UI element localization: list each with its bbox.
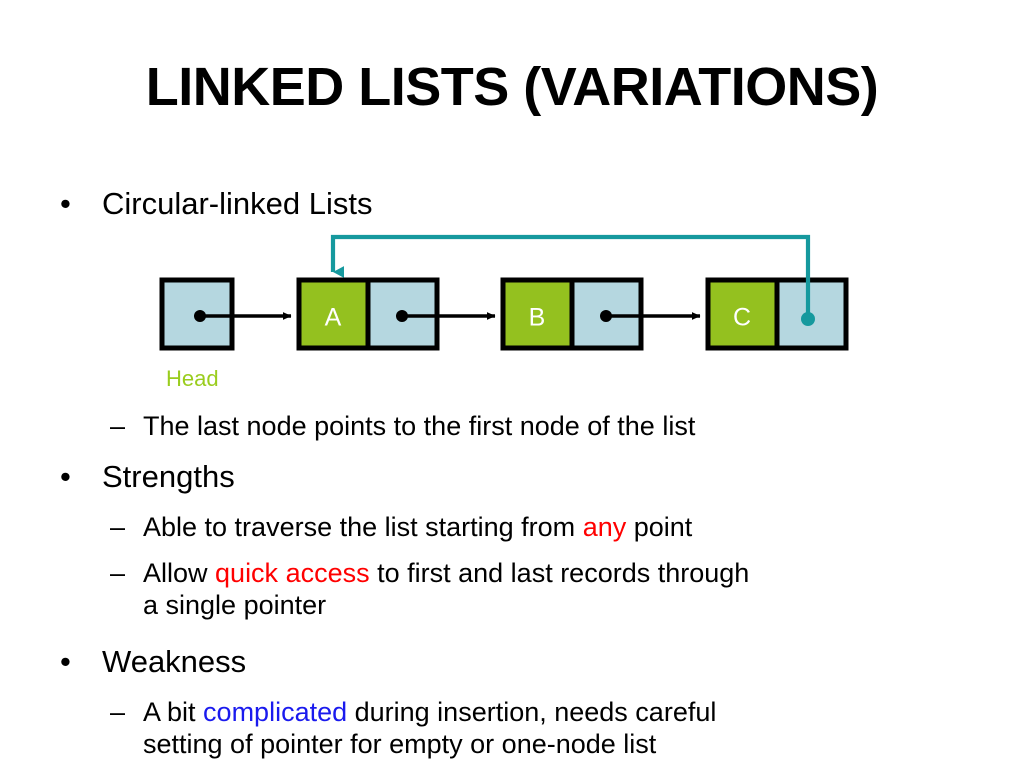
bullet-text: Weakness xyxy=(102,644,246,679)
circular-back-link xyxy=(333,237,815,326)
bullet-complicated-insertion: –A bit complicated during insertion, nee… xyxy=(110,696,716,761)
highlight-complicated: complicated xyxy=(203,697,347,727)
bullet-circular-linked-lists: •Circular-linked Lists xyxy=(60,186,372,222)
bullet-marker: • xyxy=(60,459,102,495)
bullet-marker: • xyxy=(60,186,102,222)
dash-marker: – xyxy=(110,410,143,442)
bullet-text-line2: a single pointer xyxy=(110,589,749,621)
bullet-quick-access: –Allow quick access to first and last re… xyxy=(110,557,749,622)
node-b: B xyxy=(503,280,700,348)
bullet-text-post: to first and last records through xyxy=(370,558,750,588)
page-title: LINKED LISTS (VARIATIONS) xyxy=(0,58,1024,117)
bullet-marker: • xyxy=(60,644,102,680)
dash-marker: – xyxy=(110,557,143,589)
bullet-text: Circular-linked Lists xyxy=(102,186,372,221)
bullet-text-pre: Able to traverse the list starting from xyxy=(143,512,583,542)
bullet-traverse-any-point: –Able to traverse the list starting from… xyxy=(110,511,692,543)
dash-marker: – xyxy=(110,511,143,543)
bullet-text-pre: Allow xyxy=(143,558,215,588)
highlight-any: any xyxy=(583,512,627,542)
bullet-weakness: •Weakness xyxy=(60,644,246,680)
bullet-text-pre: A bit xyxy=(143,697,203,727)
head-pointer-box xyxy=(162,280,291,348)
bullet-text-post: during insertion, needs careful xyxy=(347,697,716,727)
node-c-label: C xyxy=(733,304,751,332)
bullet-text-line2: setting of pointer for empty or one-node… xyxy=(110,728,716,760)
bullet-text: Strengths xyxy=(102,459,235,494)
node-a-label: A xyxy=(325,304,342,332)
bullet-strengths: •Strengths xyxy=(60,459,235,495)
bullet-text-post: point xyxy=(626,512,692,542)
bullet-text: The last node points to the first node o… xyxy=(143,411,695,441)
slide-canvas: LINKED LISTS (VARIATIONS) •Circular-link… xyxy=(0,0,1024,768)
dash-marker: – xyxy=(110,696,143,728)
node-a: A xyxy=(299,280,495,348)
node-b-label: B xyxy=(529,304,546,332)
head-label: Head xyxy=(166,366,219,392)
bullet-last-node-points-first: –The last node points to the first node … xyxy=(110,410,695,442)
highlight-quick-access: quick access xyxy=(215,558,370,588)
node-c: C xyxy=(708,280,846,348)
